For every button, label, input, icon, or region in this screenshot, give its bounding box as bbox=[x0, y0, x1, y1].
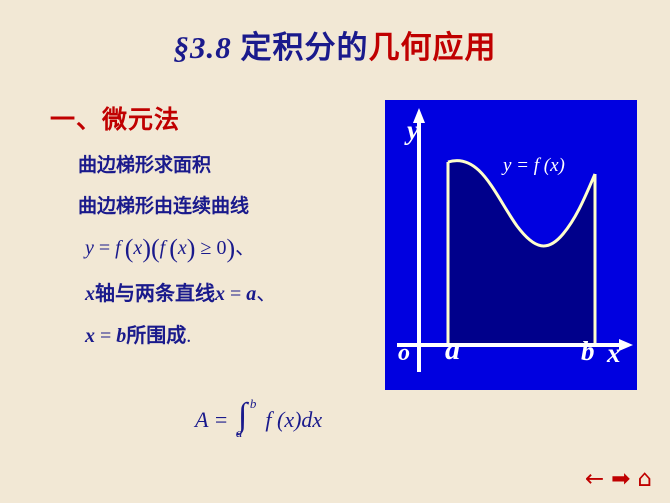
formula-integrand: f (x)dx bbox=[265, 407, 322, 432]
math-line-2: x轴与两条直线x = a、 bbox=[85, 277, 370, 306]
figure-area-under-curve: y o a b x y = f (x) bbox=[385, 100, 637, 390]
region-fill bbox=[448, 161, 595, 345]
forward-arrow-icon[interactable]: ➡ bbox=[611, 468, 630, 491]
figure-svg bbox=[385, 100, 637, 390]
page-title: §3.8 定积分的几何应用 bbox=[0, 22, 670, 67]
title-number: 3.8 bbox=[190, 30, 232, 65]
content-column: 一、微元法 曲边梯形求面积 曲边梯形由连续曲线 y = f (x)(f (x) … bbox=[40, 100, 370, 348]
curve-equation-label: y = f (x) bbox=[503, 155, 565, 177]
title-section-mark: § bbox=[174, 30, 191, 65]
formula-lhs: A = bbox=[195, 407, 228, 432]
integral-upper-limit: b bbox=[250, 396, 257, 412]
origin-label: o bbox=[398, 340, 410, 367]
body-line-1: 曲边梯形求面积 bbox=[78, 150, 370, 177]
area-formula: A = ∫ b a f (x)dx bbox=[195, 405, 322, 435]
tick-label-a: a bbox=[445, 333, 460, 367]
title-text-part2: 几何应用 bbox=[369, 30, 497, 65]
integral-lower-limit: a bbox=[236, 425, 243, 441]
body-line-2: 曲边梯形由连续曲线 bbox=[78, 191, 370, 218]
math-line-3: x = b所围成. bbox=[85, 319, 370, 348]
y-axis-label: y bbox=[407, 115, 419, 146]
x-axis-arrow-icon bbox=[619, 339, 633, 351]
navigation-buttons[interactable]: ← ➡ ⌂ bbox=[585, 468, 652, 491]
math-line-1: y = f (x)(f (x) ≥ 0)、 bbox=[85, 231, 370, 264]
x-axis-label: x bbox=[607, 338, 621, 369]
section-heading: 一、微元法 bbox=[50, 100, 370, 136]
title-text-part1: 定积分的 bbox=[232, 30, 369, 65]
integral-symbol: ∫ b a bbox=[234, 405, 260, 435]
home-icon[interactable]: ⌂ bbox=[637, 468, 652, 491]
back-arrow-icon[interactable]: ← bbox=[585, 468, 604, 491]
tick-label-b: b bbox=[581, 336, 595, 367]
